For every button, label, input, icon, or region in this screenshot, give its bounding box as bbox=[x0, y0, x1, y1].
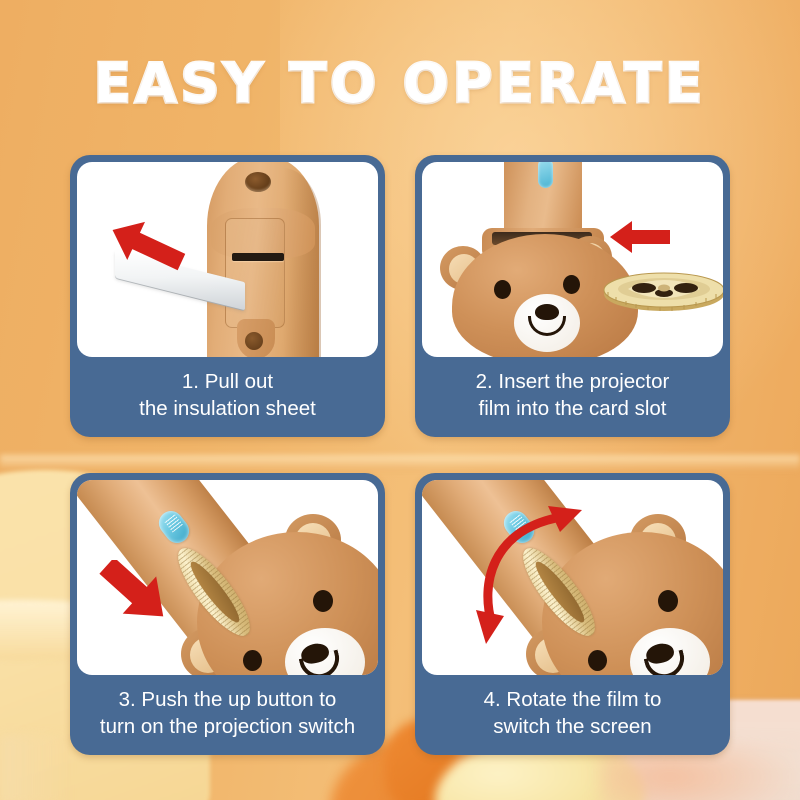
step-4-caption: 4. Rotate the film to switch the screen bbox=[422, 675, 723, 755]
step-card-3[interactable]: 3. Push the up button to turn on the pro… bbox=[70, 473, 385, 755]
arrow-left-icon bbox=[608, 218, 672, 256]
arrow-left-icon bbox=[105, 218, 189, 274]
bear-nose-icon bbox=[535, 304, 559, 320]
step-3-illustration bbox=[77, 480, 378, 675]
step-3-caption: 3. Push the up button to turn on the pro… bbox=[77, 675, 378, 755]
card-slot-icon bbox=[232, 253, 284, 261]
step-card-2[interactable]: 2. Insert the projector film into the ca… bbox=[415, 155, 730, 437]
projector-body-shading bbox=[283, 168, 321, 357]
projector-lens-hole-icon bbox=[245, 172, 271, 192]
bear-eye-left-icon bbox=[494, 280, 511, 299]
step-card-1[interactable]: 1. Pull out the insulation sheet bbox=[70, 155, 385, 437]
steps-grid: 1. Pull out the insulation sheet bbox=[70, 155, 730, 755]
bear-eye-top-icon bbox=[658, 590, 678, 612]
background-left-stripe bbox=[0, 735, 70, 800]
step-2-illustration bbox=[422, 162, 723, 357]
step-1-illustration bbox=[77, 162, 378, 357]
step-1-caption: 1. Pull out the insulation sheet bbox=[77, 357, 378, 437]
bear-eye-bottom-icon bbox=[588, 650, 607, 671]
page-title: EASY TO OPERATE bbox=[0, 52, 800, 115]
step-card-4[interactable]: 4. Rotate the film to switch the screen bbox=[415, 473, 730, 755]
rotate-double-arrow-icon bbox=[456, 492, 586, 652]
step-4-illustration bbox=[422, 480, 723, 675]
bear-eye-top-icon bbox=[313, 590, 333, 612]
projector-panel bbox=[225, 218, 285, 328]
film-disc-icon bbox=[602, 266, 723, 312]
arrow-down-right-icon bbox=[95, 560, 175, 622]
bear-eye-bottom-icon bbox=[243, 650, 262, 671]
projector-foot-hole bbox=[245, 332, 263, 350]
bear-eye-right-icon bbox=[563, 275, 580, 294]
step-2-caption: 2. Insert the projector film into the ca… bbox=[422, 357, 723, 437]
power-button-icon bbox=[538, 162, 553, 188]
